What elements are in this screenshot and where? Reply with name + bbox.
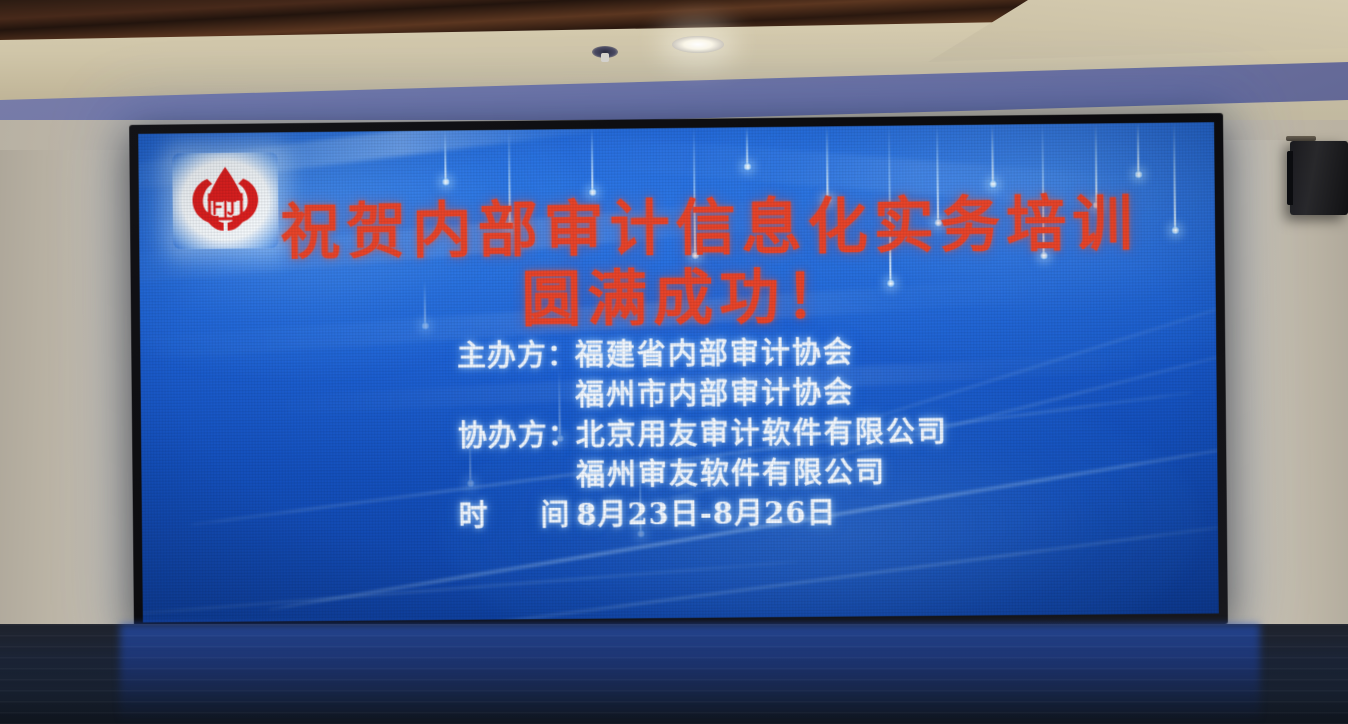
falling-light-particle [592,129,593,193]
falling-light-particle [1138,123,1139,175]
detail-row-date: 时 间： 8月23日-8月26日 [142,489,1218,539]
detail-label [458,405,576,406]
detail-label [458,485,576,486]
bg-swoosh-curve [138,561,800,618]
screen-title-block: 祝贺内部审计信息化实务培训 圆满成功！ [139,188,1216,339]
wall-speaker [1290,141,1348,215]
detail-value: 福州市内部审计协会 [575,372,854,415]
bg-swoosh-curve [405,524,1219,623]
fire-sprinkler-head [592,46,618,58]
falling-light-particle [992,125,993,185]
title-line-1: 祝贺内部审计信息化实务培训 [139,188,1216,269]
led-video-wall-bezel: 祝贺内部审计信息化实务培训 圆满成功！ 主办方： 福建省内部审计协会 福州市内部… [129,113,1228,633]
title-line-2: 圆满成功！ [139,259,1216,340]
detail-value: 北京用友审计软件有限公司 [575,411,948,454]
led-video-wall-screen[interactable]: 祝贺内部审计信息化实务培训 圆满成功！ 主办方： 福建省内部审计协会 福州市内部… [138,122,1219,622]
detail-label: 时 间： [458,495,576,536]
detail-label: 协办方： [458,415,576,456]
detail-value: 福州审友软件有限公司 [576,452,887,495]
detail-value: 福建省内部审计协会 [575,332,854,375]
screen-details-block: 主办方： 福建省内部审计协会 福州市内部审计协会 协办方： 北京用友审计软件有限… [140,329,1218,539]
floor-plank-texture [0,624,1348,724]
falling-light-particle [827,126,828,200]
detail-label: 主办方： [457,335,575,376]
ceiling-downlight [672,36,724,53]
conference-hall-photo: 祝贺内部审计信息化实务培训 圆满成功！ 主办方： 福建省内部审计协会 福州市内部… [0,0,1348,724]
detail-value: 8月23日-8月26日 [576,493,837,535]
right-wall-pillar [1208,140,1348,650]
left-wall-pillar [0,150,140,650]
